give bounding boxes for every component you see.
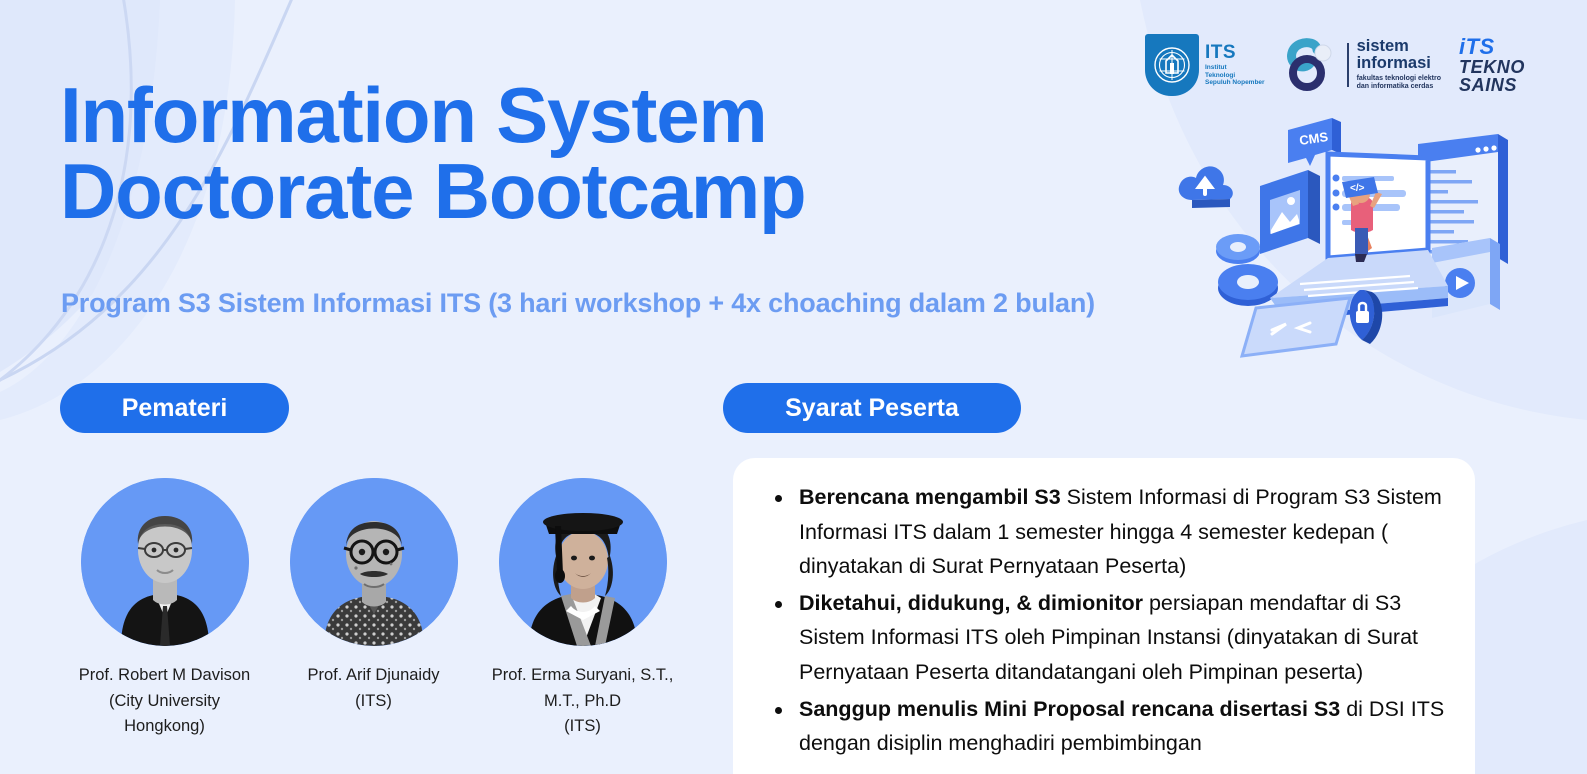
tekno-sains-line-2: SAINS — [1459, 76, 1517, 94]
avatar — [81, 478, 249, 646]
requirement-2-bold: Diketahui, didukung, & dimionitor — [799, 591, 1143, 615]
requirement-1-bold: Berencana mengambil S3 — [799, 485, 1061, 509]
si-divider — [1347, 43, 1349, 87]
si-logo-text: sistem informasi fakultas teknologi elek… — [1357, 38, 1441, 91]
portrait-male-glasses-suit-icon — [81, 478, 249, 646]
logo-row: ITS Institut Teknologi Sepuluh Nopember … — [1145, 33, 1525, 97]
its-name-line-3: Sepuluh Nopember — [1205, 79, 1265, 87]
portrait-female-graduation-gown-icon — [499, 478, 667, 646]
speaker-card-2: Prof. Arif Djunaidy (ITS) — [269, 478, 478, 740]
code-tag-label: </> — [1350, 183, 1365, 194]
its-name-line-1: Institut — [1205, 64, 1265, 72]
portrait-male-glasses-batik-icon — [290, 478, 458, 646]
cloud-upload-icon — [1179, 166, 1233, 208]
its-name-line-2: Teknologi — [1205, 72, 1265, 80]
its-emblem-icon — [1152, 43, 1192, 87]
requirements-list: Berencana mengambil S3 Sistem Informasi … — [765, 480, 1445, 761]
speaker-name-1: Prof. Robert M Davison (City University … — [79, 663, 250, 740]
code-card-icon — [1242, 298, 1350, 356]
speakers-list: Prof. Robert M Davison (City University … — [60, 478, 705, 740]
si-mark-icon — [1283, 38, 1339, 92]
page-subtitle: Program S3 Sistem Informasi ITS (3 hari … — [61, 288, 1095, 319]
illustration-svg: CMS — [1160, 108, 1550, 363]
speaker-card-3: Prof. Erma Suryani, S.T., M.T., Ph.D (IT… — [478, 478, 687, 740]
poster-canvas: Information System Doctorate Bootcamp Pr… — [0, 0, 1587, 774]
avatar — [290, 478, 458, 646]
page-title: Information System Doctorate Bootcamp — [60, 78, 1000, 229]
si-word-informasi: informasi — [1357, 55, 1441, 72]
requirement-3-bold: Sanggup menulis Mini Proposal rencana di… — [799, 697, 1340, 721]
its-logo: ITS Institut Teknologi Sepuluh Nopember — [1145, 33, 1265, 97]
tekno-sains-brand: iTS — [1459, 36, 1495, 58]
its-tekno-sains-logo: iTS TEKNO SAINS — [1459, 33, 1525, 97]
si-tagline-line-2: dan informatika cerdas — [1357, 83, 1441, 91]
its-shield-icon — [1145, 34, 1199, 96]
badge-syarat-peserta[interactable]: Syarat Peserta — [723, 383, 1021, 433]
its-acronym: ITS — [1205, 43, 1265, 62]
si-word-sistem: sistem — [1357, 38, 1441, 55]
requirement-item-2: Diketahui, didukung, & dimionitor persia… — [765, 586, 1445, 690]
avatar — [499, 478, 667, 646]
si-tagline-line-1: fakultas teknologi elektro — [1357, 75, 1441, 83]
tekno-sains-line-1: TEKNO — [1459, 58, 1525, 76]
requirements-card: Berencana mengambil S3 Sistem Informasi … — [733, 458, 1475, 774]
image-card-icon — [1260, 170, 1320, 254]
cms-isometric-illustration: CMS — [1160, 108, 1550, 363]
title-line-1: Information System — [60, 78, 1000, 154]
title-line-2: Doctorate Bootcamp — [60, 154, 1000, 230]
requirement-item-1: Berencana mengambil S3 Sistem Informasi … — [765, 480, 1445, 584]
shield-lock-icon — [1350, 290, 1383, 344]
speaker-name-2: Prof. Arif Djunaidy (ITS) — [307, 663, 439, 714]
its-logo-text: ITS Institut Teknologi Sepuluh Nopember — [1205, 43, 1265, 88]
speaker-card-1: Prof. Robert M Davison (City University … — [60, 478, 269, 740]
sistem-informasi-logo: sistem informasi fakultas teknologi elek… — [1283, 33, 1441, 97]
speaker-name-3: Prof. Erma Suryani, S.T., M.T., Ph.D (IT… — [492, 663, 674, 740]
requirement-item-3: Sanggup menulis Mini Proposal rencana di… — [765, 692, 1445, 761]
badge-pemateri[interactable]: Pemateri — [60, 383, 289, 433]
